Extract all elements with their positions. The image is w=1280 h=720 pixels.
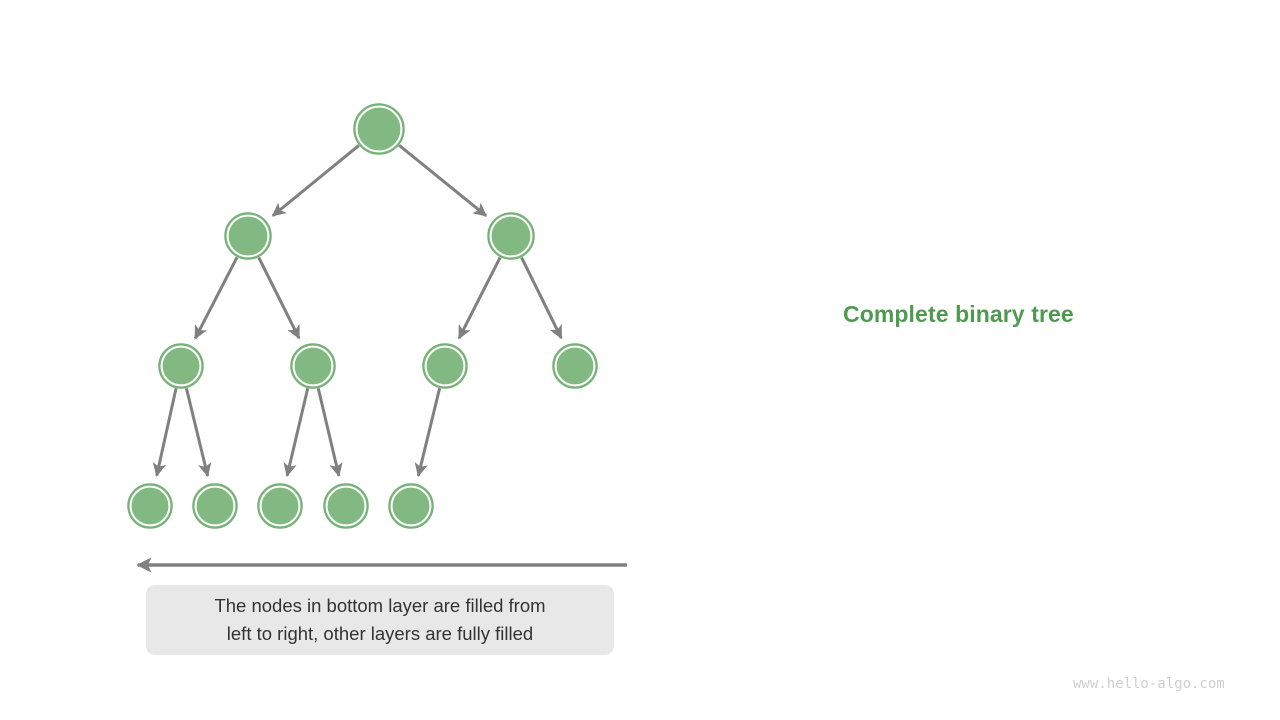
node-core [393, 488, 429, 524]
node-core [427, 348, 463, 384]
tree-node [291, 344, 335, 388]
tree-node [389, 484, 433, 528]
watermark: www.hello-algo.com [1073, 676, 1225, 692]
tree-edge [273, 145, 359, 215]
node-core [229, 217, 267, 255]
tree-edge [399, 145, 486, 215]
node-core [492, 217, 530, 255]
tree-node [324, 484, 368, 528]
tree-node [225, 213, 271, 259]
tree-edge [186, 388, 207, 476]
caption-line-1: The nodes in bottom layer are filled fro… [214, 595, 545, 616]
tree-node [354, 104, 404, 154]
tree-node [159, 344, 203, 388]
node-core [132, 488, 168, 524]
tree-edge [259, 257, 299, 338]
node-core [197, 488, 233, 524]
diagram-canvas: Complete binary tree The nodes in bottom… [0, 0, 1280, 720]
caption-box: The nodes in bottom layer are filled fro… [146, 585, 614, 655]
node-core [557, 348, 593, 384]
node-core [262, 488, 298, 524]
tree-edge [418, 388, 439, 476]
tree-edge [287, 388, 308, 475]
tree-edge [459, 257, 500, 338]
tree-nodes [128, 104, 597, 528]
tree-edge [157, 388, 176, 475]
node-core [328, 488, 364, 524]
page-title: Complete binary tree [843, 301, 1074, 328]
node-core [295, 348, 331, 384]
tree-edge [318, 388, 339, 475]
tree-node [258, 484, 302, 528]
tree-edge [522, 258, 562, 339]
tree-node [423, 344, 467, 388]
tree-node [128, 484, 172, 528]
tree-edges [157, 145, 562, 476]
caption-text: The nodes in bottom layer are filled fro… [204, 592, 555, 648]
tree-node [553, 344, 597, 388]
tree-node [193, 484, 237, 528]
node-core [163, 348, 199, 384]
node-core [358, 108, 400, 150]
tree-edge [195, 257, 237, 338]
caption-line-2: left to right, other layers are fully fi… [227, 623, 533, 644]
tree-node [488, 213, 534, 259]
